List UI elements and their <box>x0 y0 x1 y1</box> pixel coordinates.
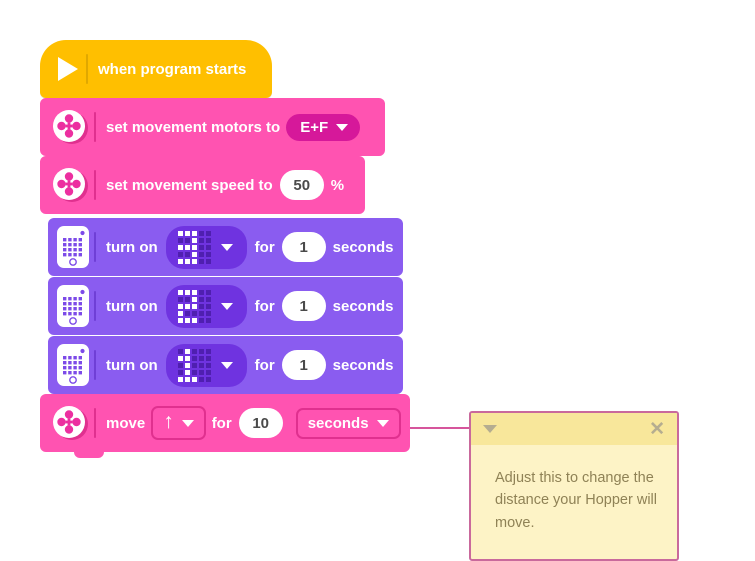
block-label: set movement motors to <box>106 120 280 135</box>
chevron-down-icon[interactable] <box>483 425 497 433</box>
block-turn-on-matrix-3[interactable]: turn on for 1 seconds <box>48 218 403 276</box>
duration-input[interactable]: 1 <box>282 291 326 321</box>
for-label: for <box>255 240 275 255</box>
motor-icon <box>50 107 90 147</box>
callout-tooltip[interactable]: ✕ Adjust this to change the distance you… <box>469 411 679 561</box>
block-divider <box>94 170 96 200</box>
block-label: set movement speed to <box>106 178 273 193</box>
block-label: move <box>106 416 145 431</box>
duration-input[interactable]: 1 <box>282 350 326 380</box>
led-matrix-preview <box>178 290 211 323</box>
play-icon <box>58 57 82 81</box>
callout-header[interactable]: ✕ <box>471 413 677 445</box>
hub-matrix-icon-svg <box>56 225 90 269</box>
hub-matrix-icon-svg <box>56 284 90 328</box>
block-divider <box>94 291 96 321</box>
direction-dropdown[interactable]: ↑ <box>151 406 206 440</box>
motor-icon <box>50 165 90 205</box>
hub-matrix-icon <box>56 284 90 328</box>
block-programming-canvas[interactable]: when program starts set movement motors … <box>0 0 755 561</box>
led-matrix-dropdown[interactable] <box>166 226 247 269</box>
move-unit-dropdown[interactable]: seconds <box>296 408 401 439</box>
block-divider <box>94 408 96 438</box>
chevron-down-icon <box>221 362 233 369</box>
motor-icon <box>50 403 90 443</box>
led-matrix-dropdown[interactable] <box>166 285 247 328</box>
block-divider <box>94 112 96 142</box>
move-duration-input[interactable]: 10 <box>239 408 283 438</box>
block-label: turn on <box>106 358 158 373</box>
hub-matrix-icon-svg <box>56 343 90 387</box>
chevron-down-icon <box>336 124 348 131</box>
chevron-down-icon <box>221 244 233 251</box>
duration-input[interactable]: 1 <box>282 232 326 262</box>
block-label: when program starts <box>98 62 246 77</box>
duration-unit-label: seconds <box>333 240 394 255</box>
motor-icon-svg <box>50 403 90 443</box>
block-label: turn on <box>106 240 158 255</box>
hub-matrix-icon <box>56 343 90 387</box>
move-bottom-nub <box>74 450 104 458</box>
block-move[interactable]: move ↑ for 10 seconds <box>40 394 410 452</box>
motors-dropdown-value: E+F <box>300 119 328 136</box>
block-turn-on-matrix-2[interactable]: turn on for 1 seconds <box>48 277 403 335</box>
led-matrix-dropdown[interactable] <box>166 344 247 387</box>
chevron-down-icon <box>182 420 194 427</box>
block-divider <box>94 232 96 262</box>
block-turn-on-matrix-1[interactable]: turn on for 1 seconds <box>48 336 403 394</box>
block-divider <box>94 350 96 380</box>
close-icon[interactable]: ✕ <box>649 420 665 439</box>
chevron-down-icon <box>221 303 233 310</box>
for-label: for <box>212 416 232 431</box>
block-set-movement-speed[interactable]: set movement speed to 50 % <box>40 156 365 214</box>
duration-unit-label: seconds <box>333 358 394 373</box>
led-matrix-preview <box>178 349 211 382</box>
block-label: turn on <box>106 299 158 314</box>
for-label: for <box>255 358 275 373</box>
callout-connector-line <box>410 427 470 429</box>
motors-dropdown[interactable]: E+F <box>286 114 360 141</box>
motor-icon-svg <box>50 107 90 147</box>
led-matrix-preview <box>178 231 211 264</box>
duration-unit-label: seconds <box>333 299 394 314</box>
arrow-up-icon: ↑ <box>163 412 174 432</box>
speed-input[interactable]: 50 <box>280 170 324 200</box>
block-when-program-starts[interactable]: when program starts <box>40 40 272 98</box>
speed-unit-label: % <box>331 178 344 193</box>
block-set-movement-motors[interactable]: set movement motors to E+F <box>40 98 385 156</box>
motor-icon-svg <box>50 165 90 205</box>
move-unit-value: seconds <box>308 415 369 432</box>
hub-matrix-icon <box>56 225 90 269</box>
block-divider <box>86 54 88 84</box>
for-label: for <box>255 299 275 314</box>
callout-text: Adjust this to change the distance your … <box>471 445 677 534</box>
chevron-down-icon <box>377 420 389 427</box>
